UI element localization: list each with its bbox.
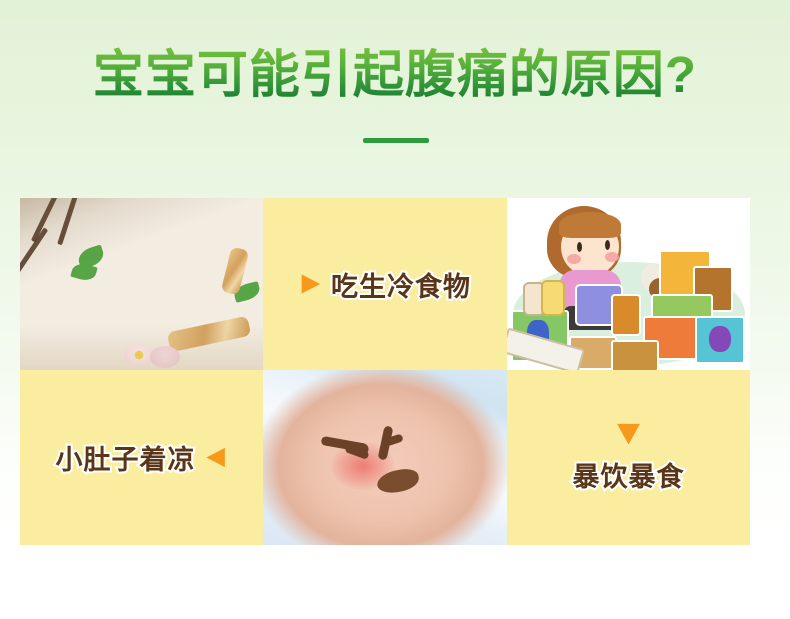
child-hair-fringe [559, 212, 621, 238]
decor-flower-petal [150, 346, 180, 368]
decor-mint-leaf [232, 281, 261, 303]
snack-package [611, 340, 659, 370]
label-group-cold-food: 吃生冷食物 [299, 265, 471, 304]
decor-wafer-roll [167, 316, 251, 353]
promo-page: 宝宝可能引起腹痛的原因? 吃生冷食物 [0, 0, 790, 619]
label-group-overeating: 暴饮暴食 [573, 422, 685, 494]
decor-stick [20, 227, 48, 276]
label-group-cold-belly: 小肚子着凉 [56, 438, 228, 477]
grid-cell-label-cold-food[interactable]: 吃生冷食物 [263, 198, 507, 370]
child-eating-snacks-image [507, 198, 750, 370]
grid-cell-baby-belly-photo [263, 370, 507, 545]
grid-cell-child-snacks-illustration [507, 198, 750, 370]
decor-mint-leaf [70, 261, 97, 283]
reasons-grid: 吃生冷食物 [20, 198, 750, 545]
reason-label-cold-food: 吃生冷食物 [331, 265, 471, 304]
triangle-left-icon [206, 447, 228, 469]
child-cheek-left [567, 254, 581, 264]
snack-can [611, 294, 641, 336]
snack-bottle [541, 280, 565, 316]
title-divider [363, 138, 429, 143]
reason-label-overeating: 暴饮暴食 [573, 455, 685, 494]
decor-mint-leaf [76, 244, 106, 269]
child-cheek-right [605, 252, 619, 262]
child-eye-left [577, 242, 582, 252]
grid-cell-ice-cream-photo [20, 198, 263, 370]
grid-cell-label-overeating[interactable]: 暴饮暴食 [507, 370, 750, 545]
reason-label-cold-belly: 小肚子着凉 [56, 438, 196, 477]
baby-belly-image [263, 370, 507, 545]
triangle-down-icon [616, 422, 642, 446]
snack-package-detail [709, 326, 731, 352]
decor-wafer-roll [221, 247, 250, 296]
decor-stick [31, 198, 58, 242]
decor-stick [57, 198, 80, 245]
page-header: 宝宝可能引起腹痛的原因? [0, 0, 790, 180]
triangle-right-icon [299, 273, 321, 295]
child-eye-right [605, 240, 610, 250]
ice-cream-dessert-image [20, 198, 263, 370]
page-title: 宝宝可能引起腹痛的原因? [0, 44, 790, 106]
decor-flower [124, 344, 154, 366]
grid-cell-label-cold-belly[interactable]: 小肚子着凉 [20, 370, 263, 545]
